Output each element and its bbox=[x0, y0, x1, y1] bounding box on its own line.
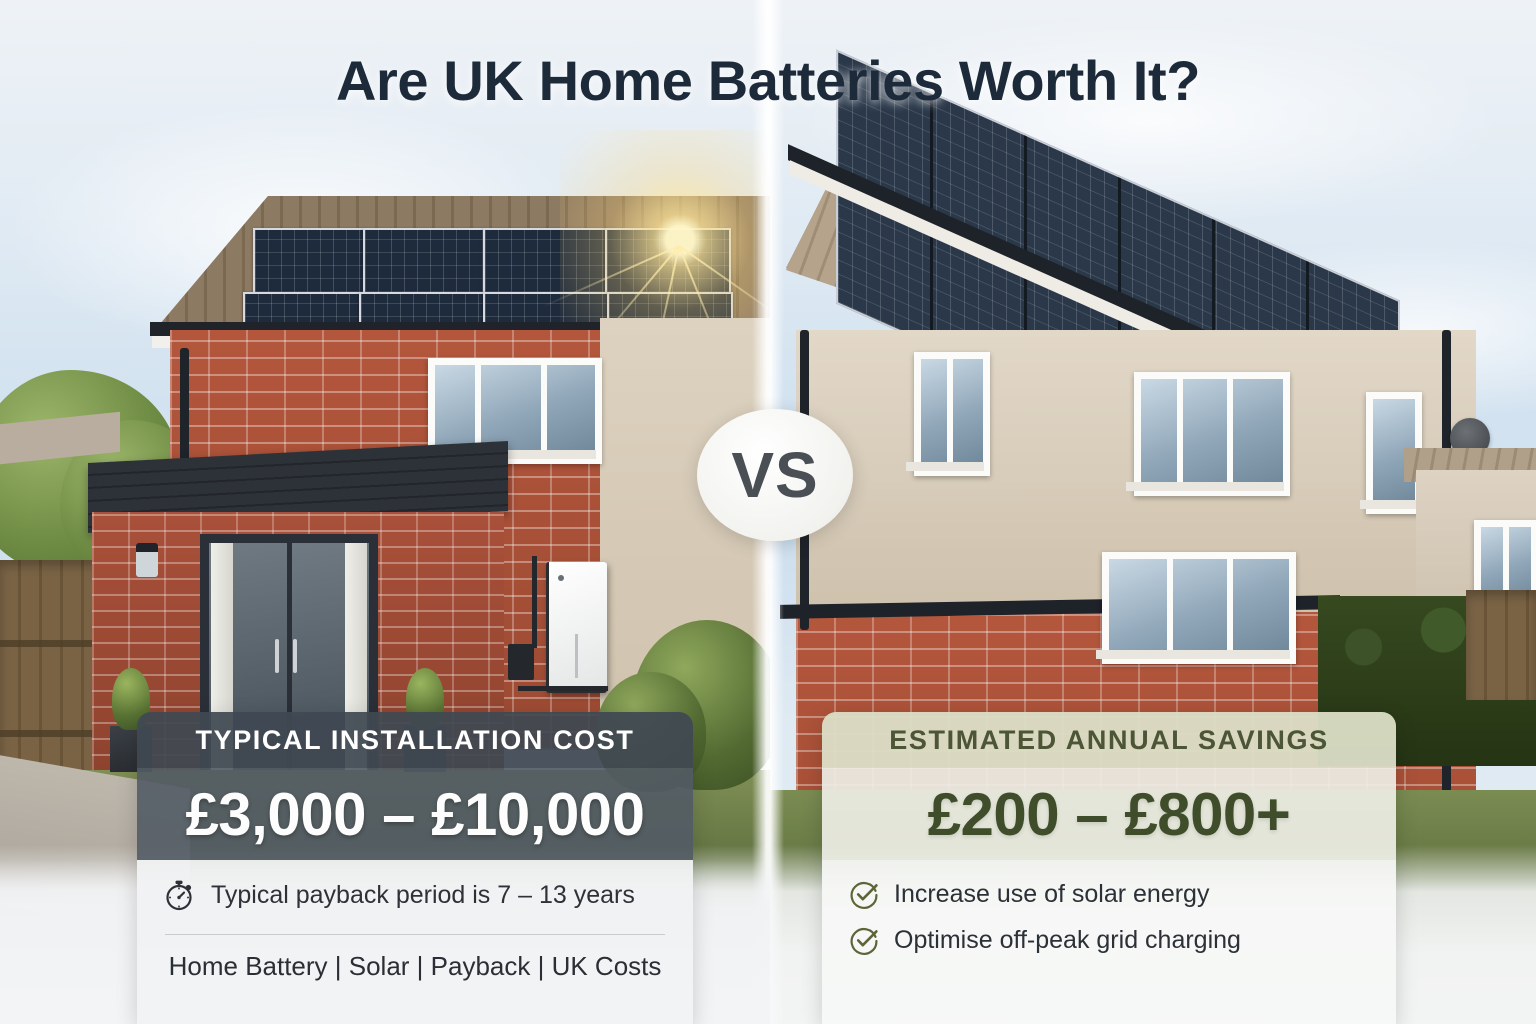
house-window bbox=[914, 352, 990, 476]
annual-savings-card: ESTIMATED ANNUAL SAVINGS £200 – £800+ In… bbox=[822, 712, 1396, 1024]
vs-badge: VS bbox=[697, 409, 853, 541]
check-circle-icon bbox=[848, 924, 880, 956]
house-window bbox=[1134, 372, 1290, 496]
topic-tags: Home Battery | Solar | Payback | UK Cost… bbox=[163, 951, 667, 982]
benefit-text: Increase use of solar energy bbox=[894, 880, 1209, 909]
card-divider-rule bbox=[165, 934, 665, 935]
annual-savings-card-header: ESTIMATED ANNUAL SAVINGS bbox=[822, 712, 1396, 768]
window-sill bbox=[1126, 482, 1284, 491]
house-window bbox=[1102, 552, 1296, 664]
stopwatch-icon bbox=[163, 878, 197, 912]
installation-cost-header-label: TYPICAL INSTALLATION COST bbox=[196, 725, 635, 756]
annual-savings-amount: £200 – £800+ bbox=[928, 780, 1291, 849]
benefit-item: Increase use of solar energy bbox=[848, 878, 1370, 910]
installation-cost-card: TYPICAL INSTALLATION COST £3,000 – £10,0… bbox=[137, 712, 693, 1024]
inverter-box bbox=[508, 644, 534, 680]
solar-panel bbox=[605, 228, 731, 294]
benefit-item: Optimise off-peak grid charging bbox=[848, 924, 1370, 956]
vs-label: VS bbox=[731, 438, 818, 512]
infographic-canvas: VS Are UK Home Batteries Worth It? TYPIC… bbox=[0, 0, 1536, 1024]
payback-note-text: Typical payback period is 7 – 13 years bbox=[211, 881, 635, 910]
check-circle-icon bbox=[848, 878, 880, 910]
window-sill bbox=[1360, 500, 1416, 509]
payback-note-row: Typical payback period is 7 – 13 years bbox=[163, 878, 667, 912]
page-title: Are UK Home Batteries Worth It? bbox=[0, 48, 1536, 113]
installation-cost-card-header: TYPICAL INSTALLATION COST bbox=[137, 712, 693, 768]
garden-fence bbox=[1466, 590, 1536, 700]
solar-panel bbox=[253, 228, 365, 294]
cable-conduit bbox=[518, 686, 608, 691]
annual-savings-card-body: Increase use of solar energy Optimise of… bbox=[822, 860, 1396, 1024]
window-sill bbox=[1096, 650, 1290, 659]
home-battery-unit bbox=[546, 562, 607, 693]
wall-lamp bbox=[136, 543, 158, 577]
benefit-text: Optimise off-peak grid charging bbox=[894, 926, 1241, 955]
cable-conduit bbox=[532, 556, 537, 648]
solar-panel bbox=[363, 228, 485, 294]
installation-cost-card-body: Typical payback period is 7 – 13 years H… bbox=[137, 860, 693, 1024]
installation-cost-amount-band: £3,000 – £10,000 bbox=[137, 768, 693, 860]
window-sill bbox=[906, 462, 984, 471]
installation-cost-amount: £3,000 – £10,000 bbox=[185, 780, 644, 849]
annual-savings-header-label: ESTIMATED ANNUAL SAVINGS bbox=[889, 725, 1328, 756]
annual-savings-amount-band: £200 – £800+ bbox=[822, 768, 1396, 860]
